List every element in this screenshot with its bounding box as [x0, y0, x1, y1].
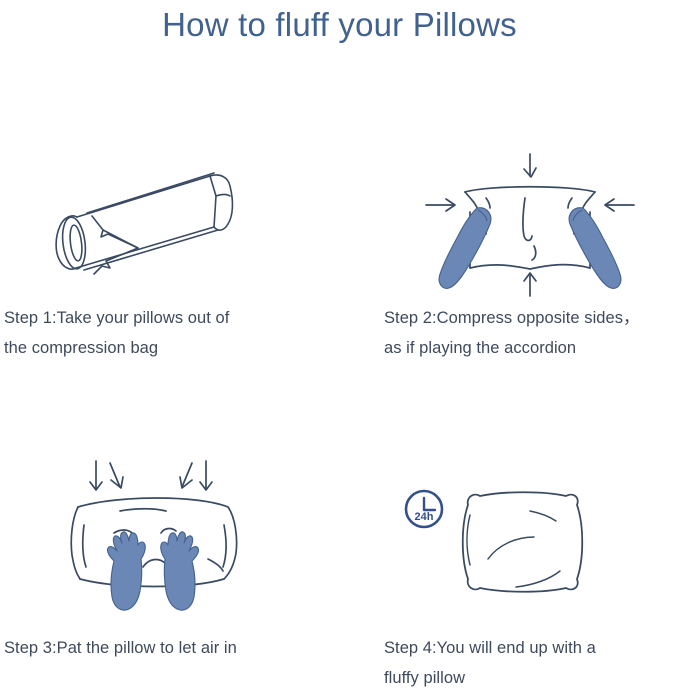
- hands-patting-pillow-icon: [58, 455, 278, 620]
- page-title: How to fluff your Pillows: [0, 0, 679, 48]
- step-4-caption: Step 4:You will end up with a fluffy pil…: [384, 633, 679, 693]
- right-hand-shape: [161, 532, 199, 610]
- step-2-block: Step 2:Compress opposite sides， as if pl…: [380, 150, 679, 295]
- step-1-block: Step 1:Take your pillows out of the comp…: [0, 150, 330, 295]
- step-4-caption-line-2: fluffy pillow: [384, 663, 679, 693]
- step-3-caption-line-1: Step 3:Pat the pillow to let air in: [4, 633, 324, 663]
- badge-24h-label: 24h: [415, 511, 434, 523]
- step-4-caption-line-1: Step 4:You will end up with a: [384, 633, 679, 663]
- left-hand-shape: [107, 532, 145, 610]
- step-4-illustration: 24h: [380, 455, 679, 610]
- rolled-compression-bag-icon: [38, 158, 268, 298]
- step-3-illustration: [0, 455, 330, 610]
- infographic-page: How to fluff your Pillows: [0, 0, 679, 696]
- step-2-illustration: [380, 150, 679, 295]
- step-4-block: 24h Step 4:You will end up with a fluffy…: [380, 455, 679, 610]
- left-hand-shape: [439, 208, 491, 289]
- step-1-caption-line-1: Step 1:Take your pillows out of: [4, 303, 304, 333]
- step-1-illustration: [0, 150, 330, 295]
- step-1-caption: Step 1:Take your pillows out of the comp…: [4, 303, 304, 363]
- step-3-caption: Step 3:Pat the pillow to let air in: [4, 633, 324, 663]
- step-3-block: Step 3:Pat the pillow to let air in: [0, 455, 330, 610]
- right-hand-shape: [569, 208, 621, 289]
- step-2-caption-line-2: as if playing the accordion: [384, 333, 679, 363]
- clock-24h-badge-icon: 24h: [406, 491, 442, 527]
- fluffy-pillow-icon: 24h: [404, 487, 604, 602]
- hands-compressing-pillow-icon: [420, 150, 640, 300]
- step-2-caption: Step 2:Compress opposite sides， as if pl…: [384, 303, 679, 363]
- step-2-caption-line-1: Step 2:Compress opposite sides，: [384, 303, 679, 333]
- step-1-caption-line-2: the compression bag: [4, 333, 304, 363]
